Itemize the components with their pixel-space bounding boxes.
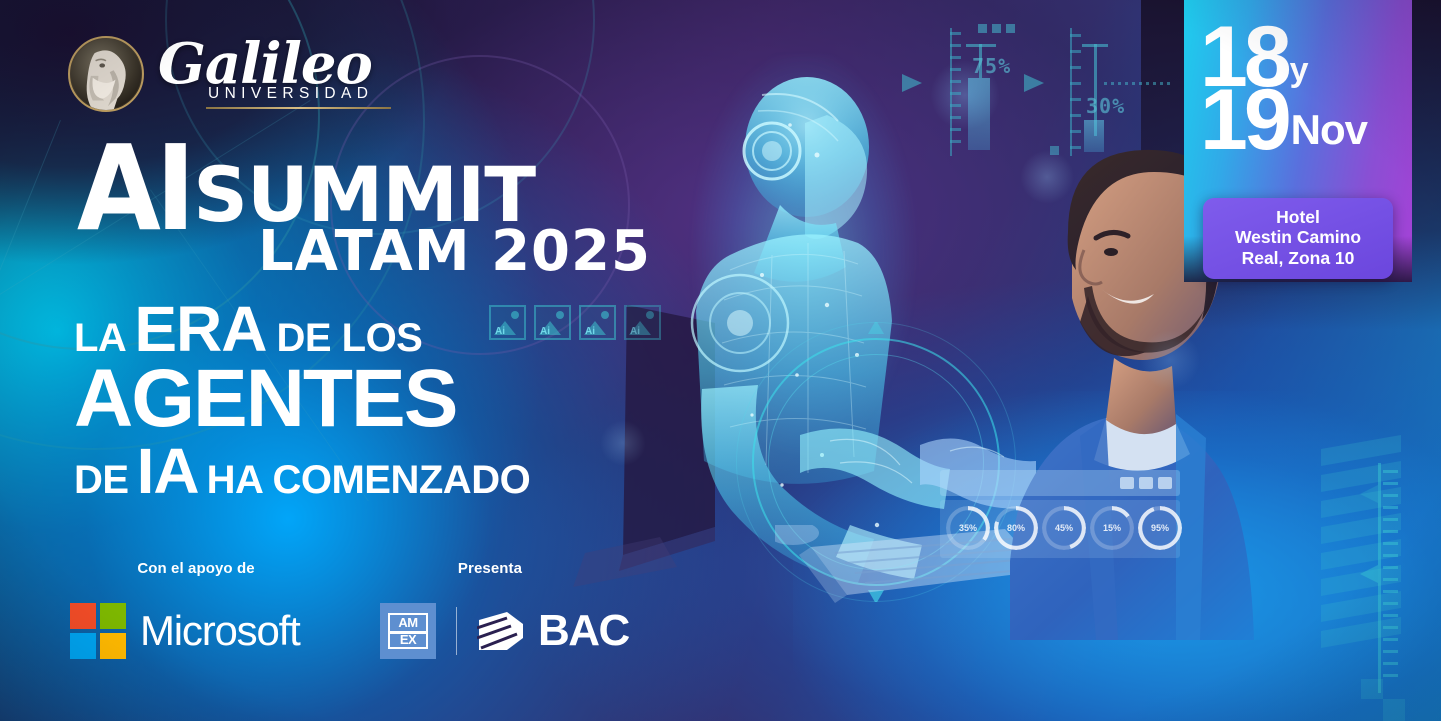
vignette-overlay	[0, 0, 1441, 721]
venue-line-2: Westin Camino	[1209, 227, 1387, 247]
venue-line-3: Real, Zona 10	[1209, 248, 1387, 268]
venue-badge: Hotel Westin Camino Real, Zona 10	[1203, 198, 1393, 279]
venue-line-1: Hotel	[1209, 207, 1387, 227]
ai-summit-banner: 75% 30% Ai Ai Ai Ai	[0, 0, 1441, 721]
